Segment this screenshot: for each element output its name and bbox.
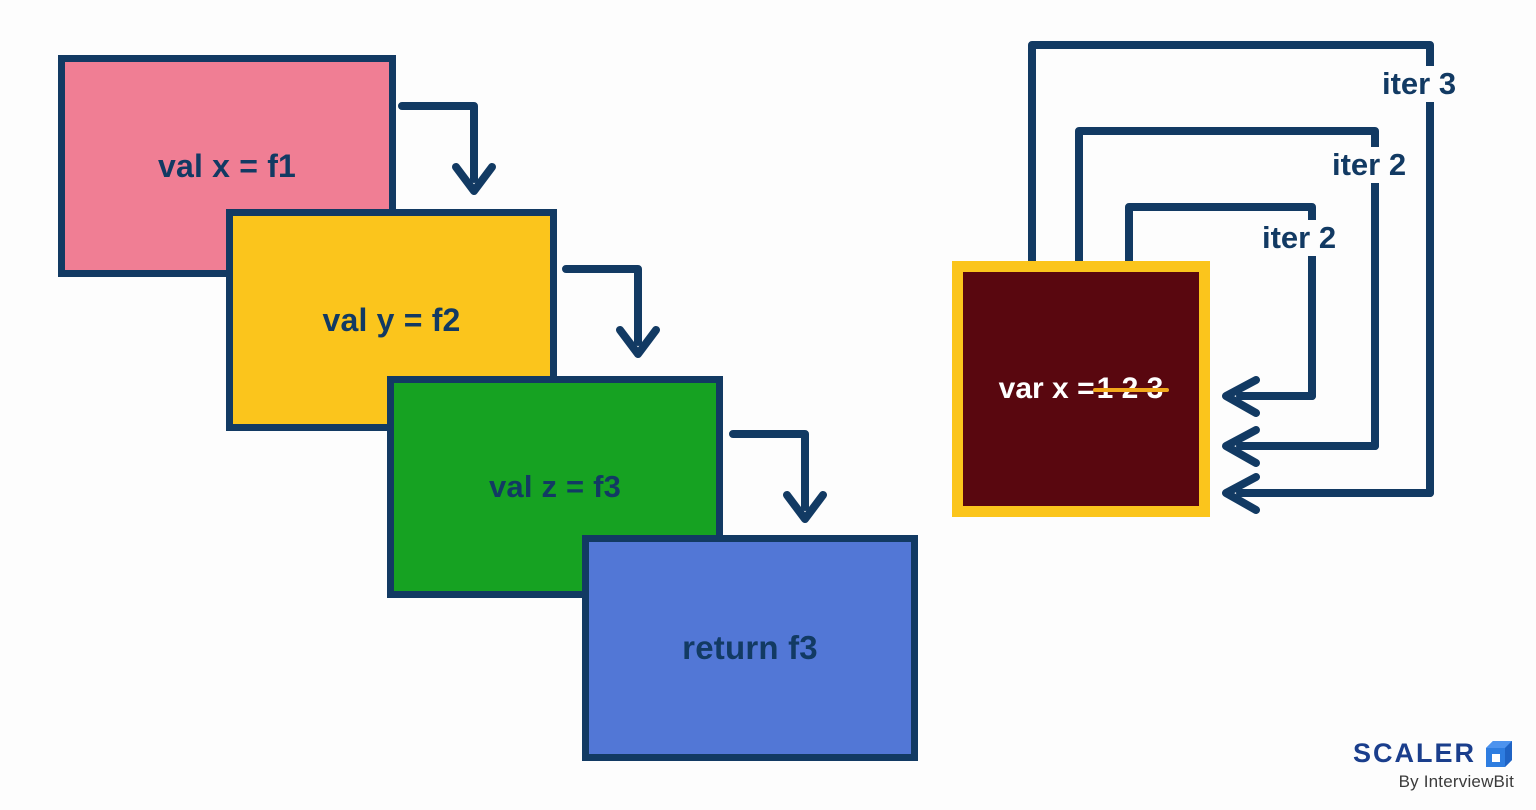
iteration-label-outer: iter 3 (1378, 66, 1460, 102)
brand-row: SCALER (1353, 738, 1514, 769)
diagram-canvas: val x = f1 val y = f2 val z = f3 return … (0, 0, 1536, 810)
frame-label-f1: val x = f1 (158, 148, 296, 185)
frame-label-return: return f3 (682, 629, 818, 667)
var-box-mutable: var x = 1 2 3 (952, 261, 1210, 517)
connector-arrow-f3-to-return (727, 423, 847, 533)
var-box-struck-values: 1 2 3 (1097, 372, 1164, 406)
connector-arrow-f2-to-f3 (560, 258, 680, 368)
brand-logo: SCALER By InterviewBit (1353, 738, 1514, 792)
var-box-label: var x = 1 2 3 (999, 372, 1164, 406)
frame-box-return: return f3 (582, 535, 918, 761)
iteration-label-inner: iter 2 (1258, 220, 1340, 256)
brand-subtitle: By InterviewBit (1353, 772, 1514, 792)
iteration-label-middle: iter 2 (1328, 147, 1410, 183)
var-box-prefix: var x = (999, 372, 1095, 406)
cube-icon (1484, 739, 1514, 769)
brand-name: SCALER (1353, 738, 1476, 769)
frame-label-f3: val z = f3 (489, 469, 621, 505)
frame-label-f2: val y = f2 (322, 302, 460, 339)
connector-arrow-f1-to-f2 (396, 95, 516, 205)
